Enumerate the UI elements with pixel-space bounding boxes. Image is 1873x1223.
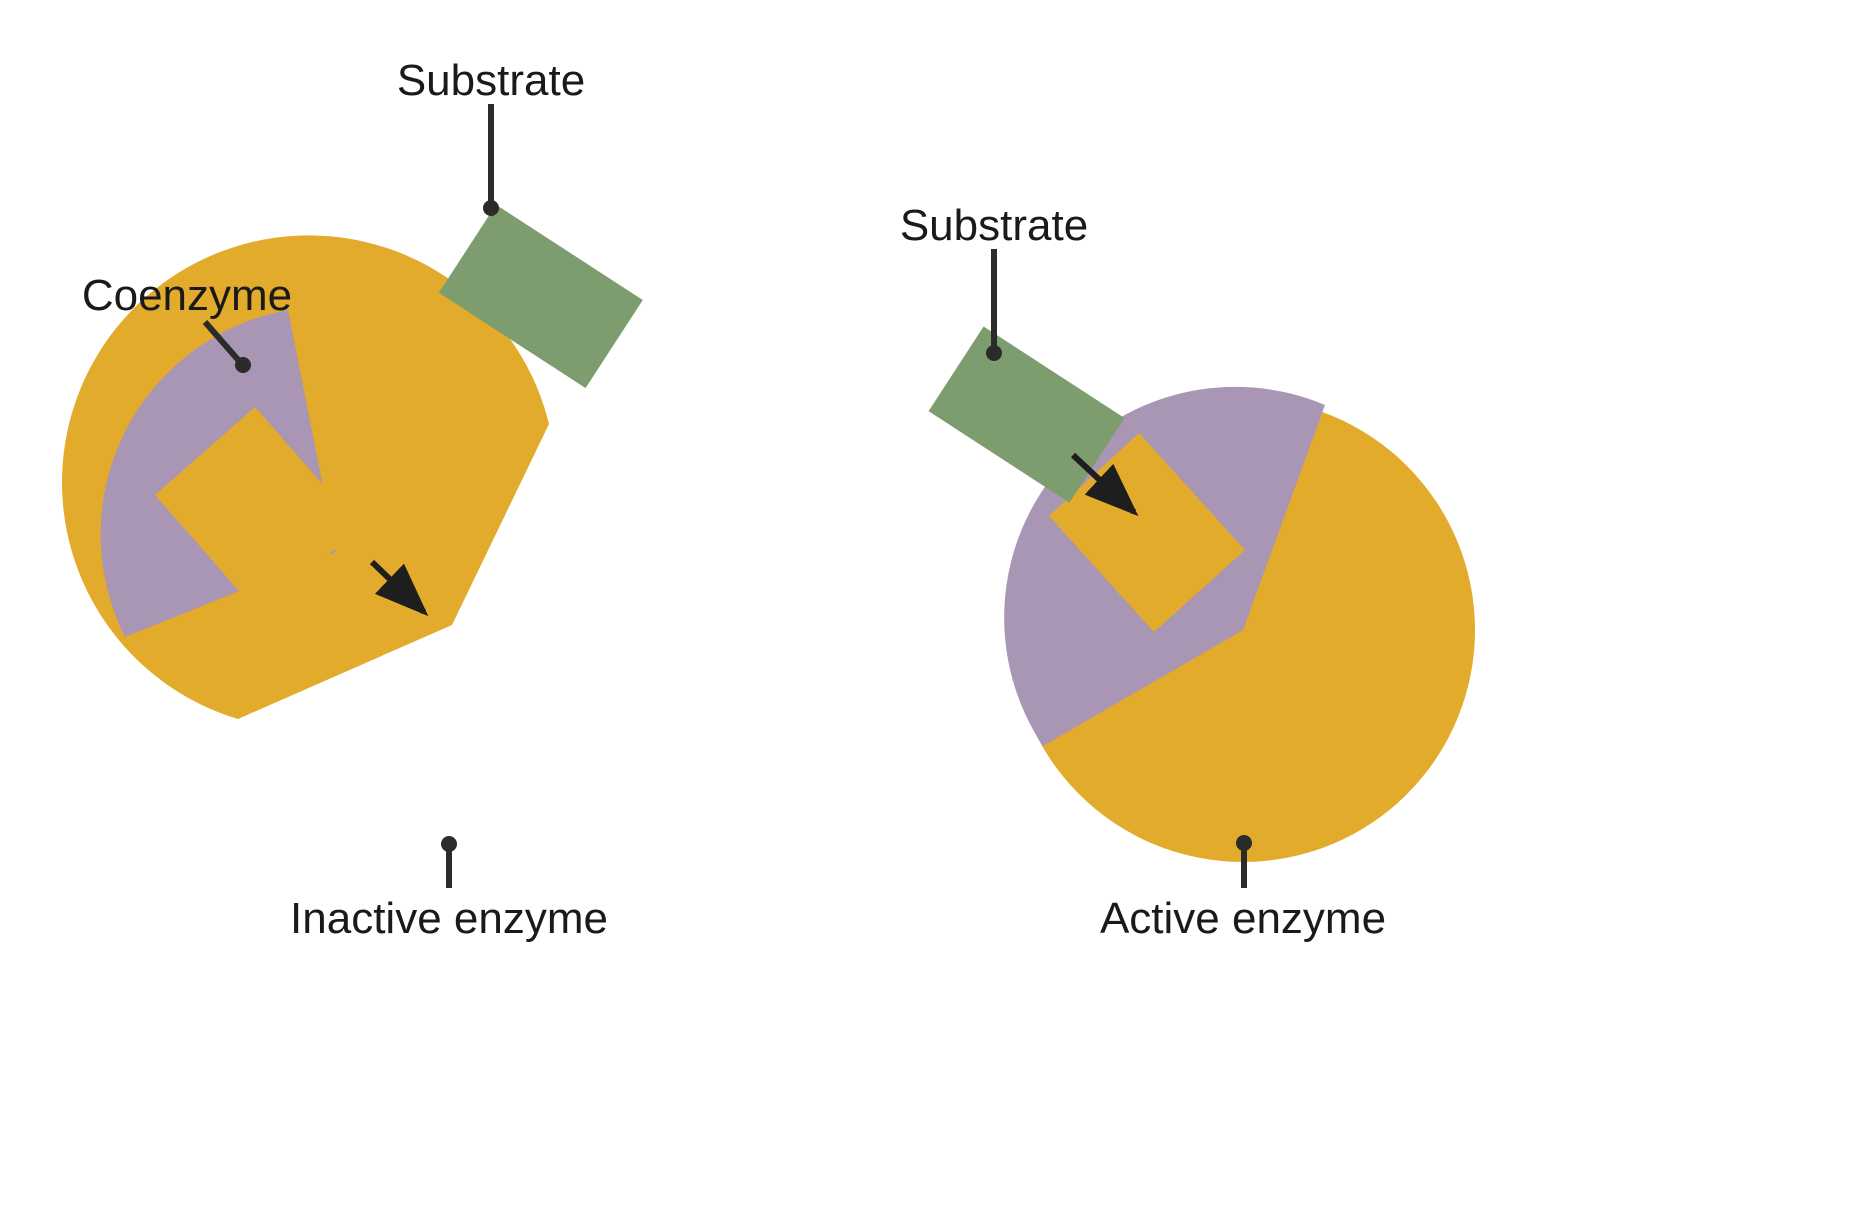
- coenzyme-label: Coenzyme: [82, 271, 292, 320]
- substrate-label-left: Substrate: [397, 56, 585, 105]
- inactive-enzyme-leader: [441, 836, 457, 888]
- substrate-leader-left: [483, 104, 499, 216]
- inactive-enzyme-label: Inactive enzyme: [290, 894, 608, 943]
- active-enzyme-label: Active enzyme: [1100, 894, 1386, 943]
- substrate-label-right: Substrate: [900, 201, 1088, 250]
- diagram-canvas: Substrate Coenzyme Inactive enzyme: [0, 0, 1873, 1223]
- enzyme-coenzyme-diagram: Substrate Coenzyme Inactive enzyme: [0, 0, 1873, 1223]
